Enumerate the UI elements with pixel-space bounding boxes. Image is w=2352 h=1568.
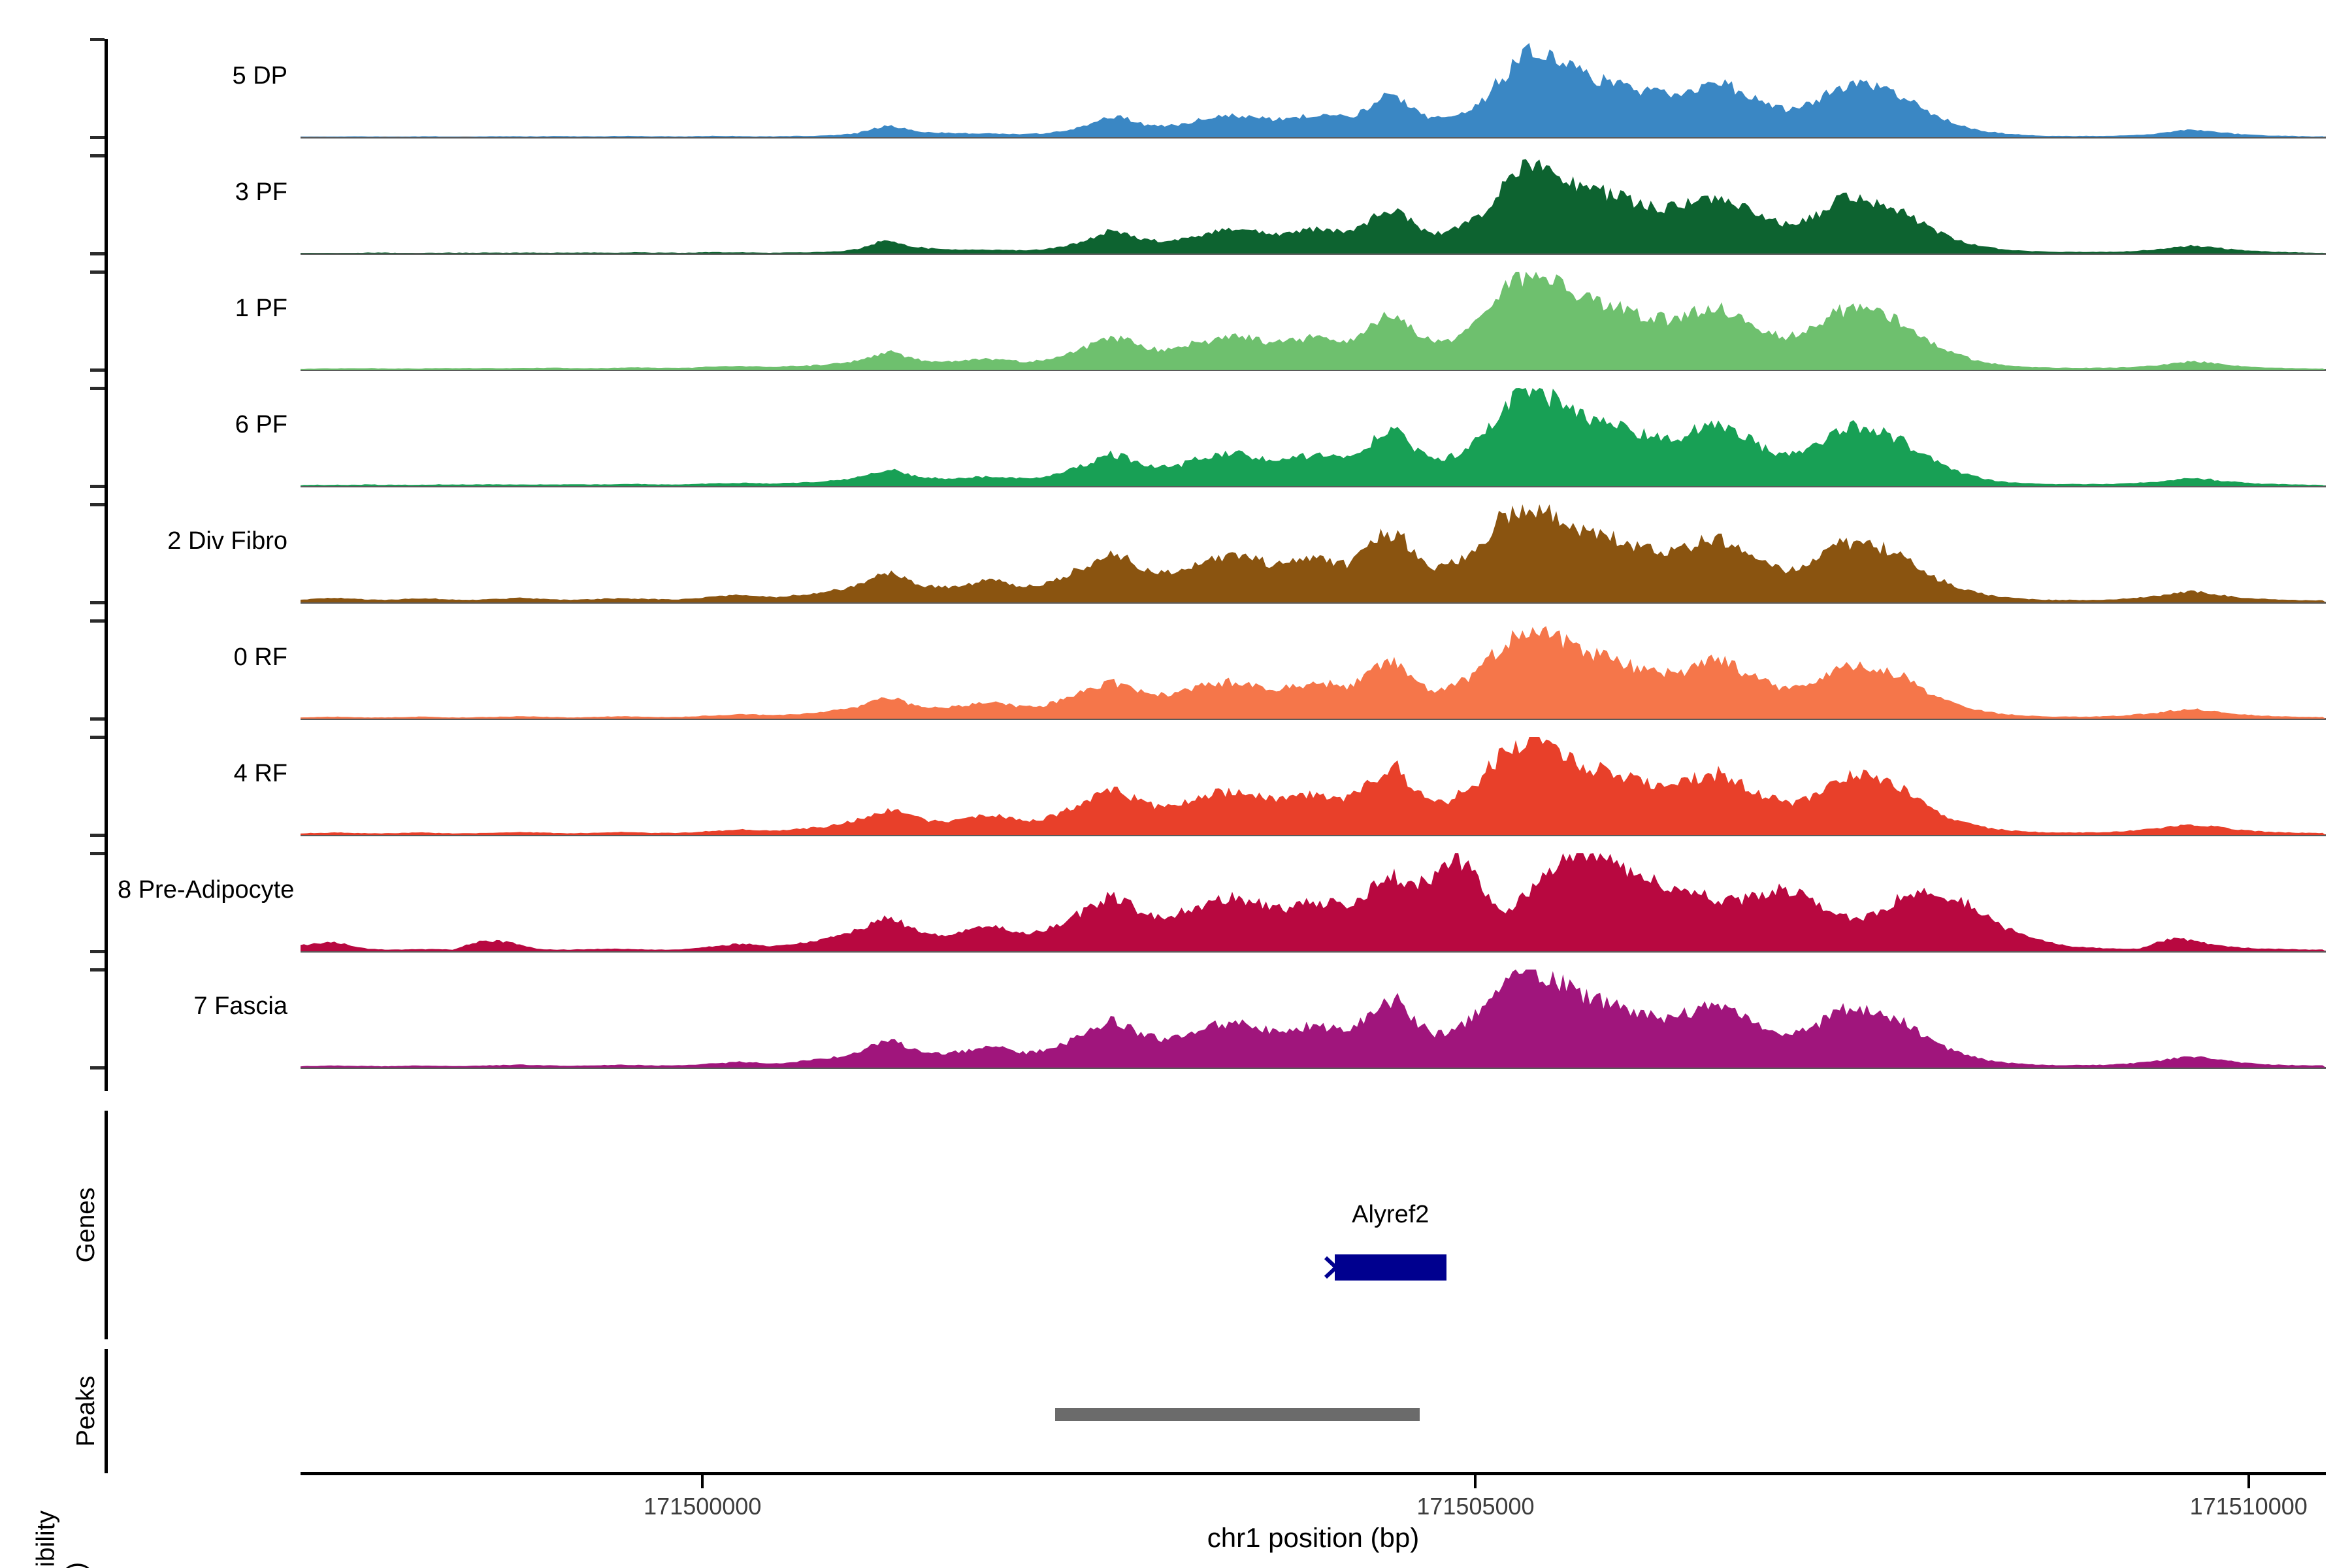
track-label-1-pf: 1 PF — [118, 295, 287, 323]
genes-panel-spine — [105, 1111, 108, 1339]
track-label-5-dp: 5 DP — [118, 62, 287, 90]
track-label-2-div-fibro: 2 Div Fibro — [118, 527, 287, 555]
coverage-area-5-dp — [301, 39, 2326, 139]
track-label-0-rf: 0 RF — [118, 644, 287, 672]
coverage-area-0-rf — [301, 621, 2326, 720]
track-label-3-pf: 3 PF — [118, 178, 287, 206]
x-axis-spine — [301, 1472, 2326, 1475]
genes-panel-label: Genes — [72, 1111, 101, 1339]
y-axis-tick — [90, 736, 105, 739]
track-label-4-rf: 4 RF — [118, 760, 287, 788]
y-axis-tick — [90, 154, 105, 157]
track-label-7-fascia: 7 Fascia — [118, 992, 287, 1021]
x-axis-tick-label: 171505000 — [1345, 1493, 1606, 1520]
peak-region-bar[interactable] — [1055, 1408, 1420, 1421]
y-axis-tick — [90, 368, 105, 372]
y-axis-tick — [90, 387, 105, 390]
y-axis-tick — [90, 252, 105, 255]
y-axis-tick — [90, 834, 105, 837]
x-axis-title: chr1 position (bp) — [301, 1522, 2326, 1554]
peaks-panel-label: Peaks — [72, 1349, 101, 1473]
y-axis-tick — [90, 1066, 105, 1070]
y-axis-tick — [90, 270, 105, 274]
y-axis-tick — [90, 717, 105, 721]
y-axis-tick — [90, 619, 105, 623]
x-axis-tick — [1474, 1475, 1477, 1488]
coverage-area-1-pf — [301, 272, 2326, 371]
y-axis-tick — [90, 136, 105, 139]
y-axis-tick — [90, 601, 105, 604]
y-axis-tick — [90, 485, 105, 488]
coverage-area-8-pre-adipocyte — [301, 853, 2326, 953]
coverage-area-4-rf — [301, 737, 2326, 836]
track-label-8-pre-adipocyte: 8 Pre-Adipocyte — [118, 876, 287, 904]
coverage-area-3-pf — [301, 155, 2326, 255]
x-axis-tick-label: 171500000 — [572, 1493, 833, 1520]
coverage-area-7-fascia — [301, 970, 2326, 1069]
coverage-area-2-div-fibro — [301, 504, 2326, 604]
y-axis-tick — [90, 852, 105, 855]
y-axis-title-line2: (range 0 - 240) — [62, 1562, 90, 1568]
y-axis-tick — [90, 950, 105, 953]
genome-browser-figure: { "axes": { "y_title_line1": "Normalized… — [0, 0, 2352, 1568]
coverage-y-spine — [105, 39, 108, 1091]
y-axis-title-line1: Normalized accessibility — [32, 1511, 60, 1568]
x-axis-tick — [701, 1475, 704, 1488]
gene-strand-arrow-icon — [1324, 1256, 1341, 1279]
track-label-6-pf: 6 PF — [118, 411, 287, 439]
y-axis-tick — [90, 503, 105, 506]
peaks-panel-spine — [105, 1349, 108, 1473]
y-axis-tick — [90, 968, 105, 972]
coverage-area-6-pf — [301, 388, 2326, 487]
y-axis-tick — [90, 38, 105, 41]
gene-body-box[interactable] — [1335, 1254, 1446, 1281]
x-axis-tick-label: 171510000 — [2118, 1493, 2352, 1520]
gene-label: Alyref2 — [1237, 1201, 1544, 1229]
x-axis-tick — [2247, 1475, 2250, 1488]
